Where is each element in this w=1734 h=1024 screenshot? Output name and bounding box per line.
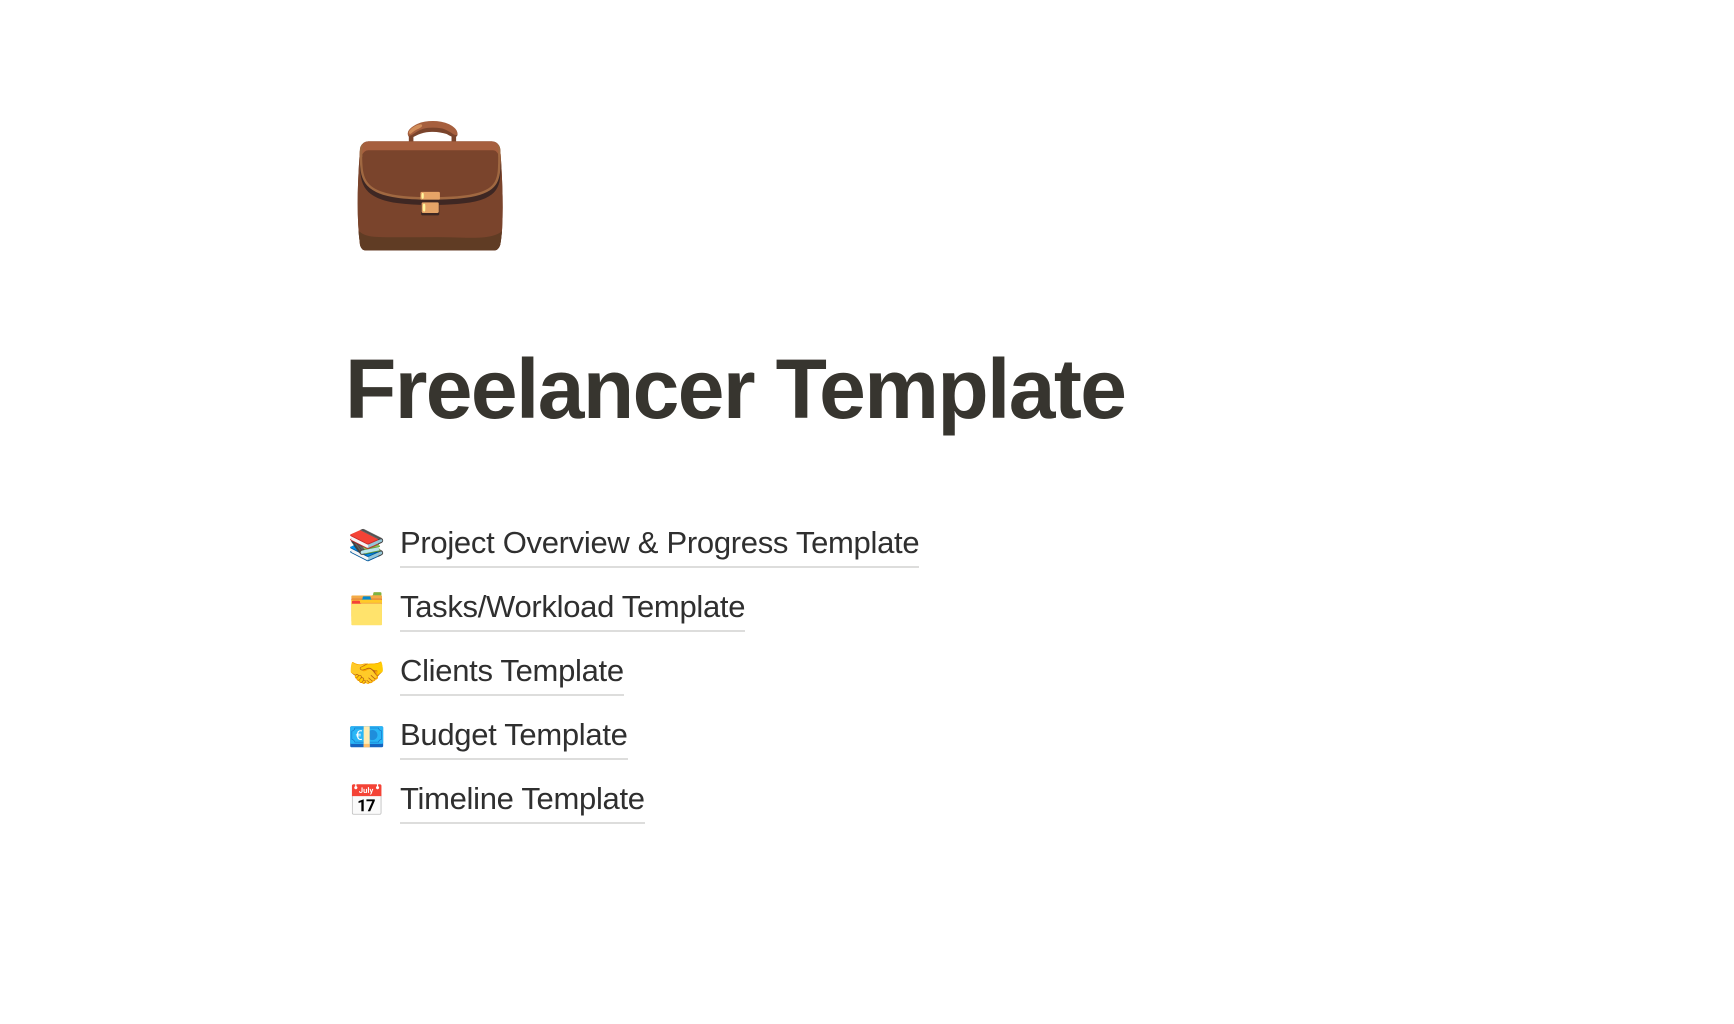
list-item[interactable]: 🗂️ Tasks/Workload Template (348, 581, 1448, 639)
list-item-label[interactable]: Timeline Template (400, 780, 645, 823)
list-item[interactable]: 💶 Budget Template (348, 709, 1448, 767)
list-item-label[interactable]: Tasks/Workload Template (400, 588, 745, 631)
calendar-icon: 📅 (348, 785, 382, 819)
template-link-list: 📚 Project Overview & Progress Template 🗂… (348, 517, 1448, 831)
page-title[interactable]: Freelancer Template (345, 345, 1545, 433)
card-index-dividers-icon: 🗂️ (348, 593, 382, 627)
document-page: 💼 Freelancer Template 📚 Project Overview… (0, 0, 1734, 1024)
books-icon: 📚 (348, 529, 382, 563)
page-icon-button[interactable]: 💼 (348, 112, 508, 252)
list-item-label[interactable]: Clients Template (400, 652, 624, 695)
euro-banknote-icon: 💶 (348, 721, 382, 755)
list-item-label[interactable]: Budget Template (400, 716, 628, 759)
list-item[interactable]: 🤝 Clients Template (348, 645, 1448, 703)
list-item[interactable]: 📅 Timeline Template (348, 773, 1448, 831)
handshake-icon: 🤝 (348, 657, 382, 691)
list-item-label[interactable]: Project Overview & Progress Template (400, 524, 919, 567)
list-item[interactable]: 📚 Project Overview & Progress Template (348, 517, 1448, 575)
briefcase-icon[interactable]: 💼 (348, 112, 512, 244)
